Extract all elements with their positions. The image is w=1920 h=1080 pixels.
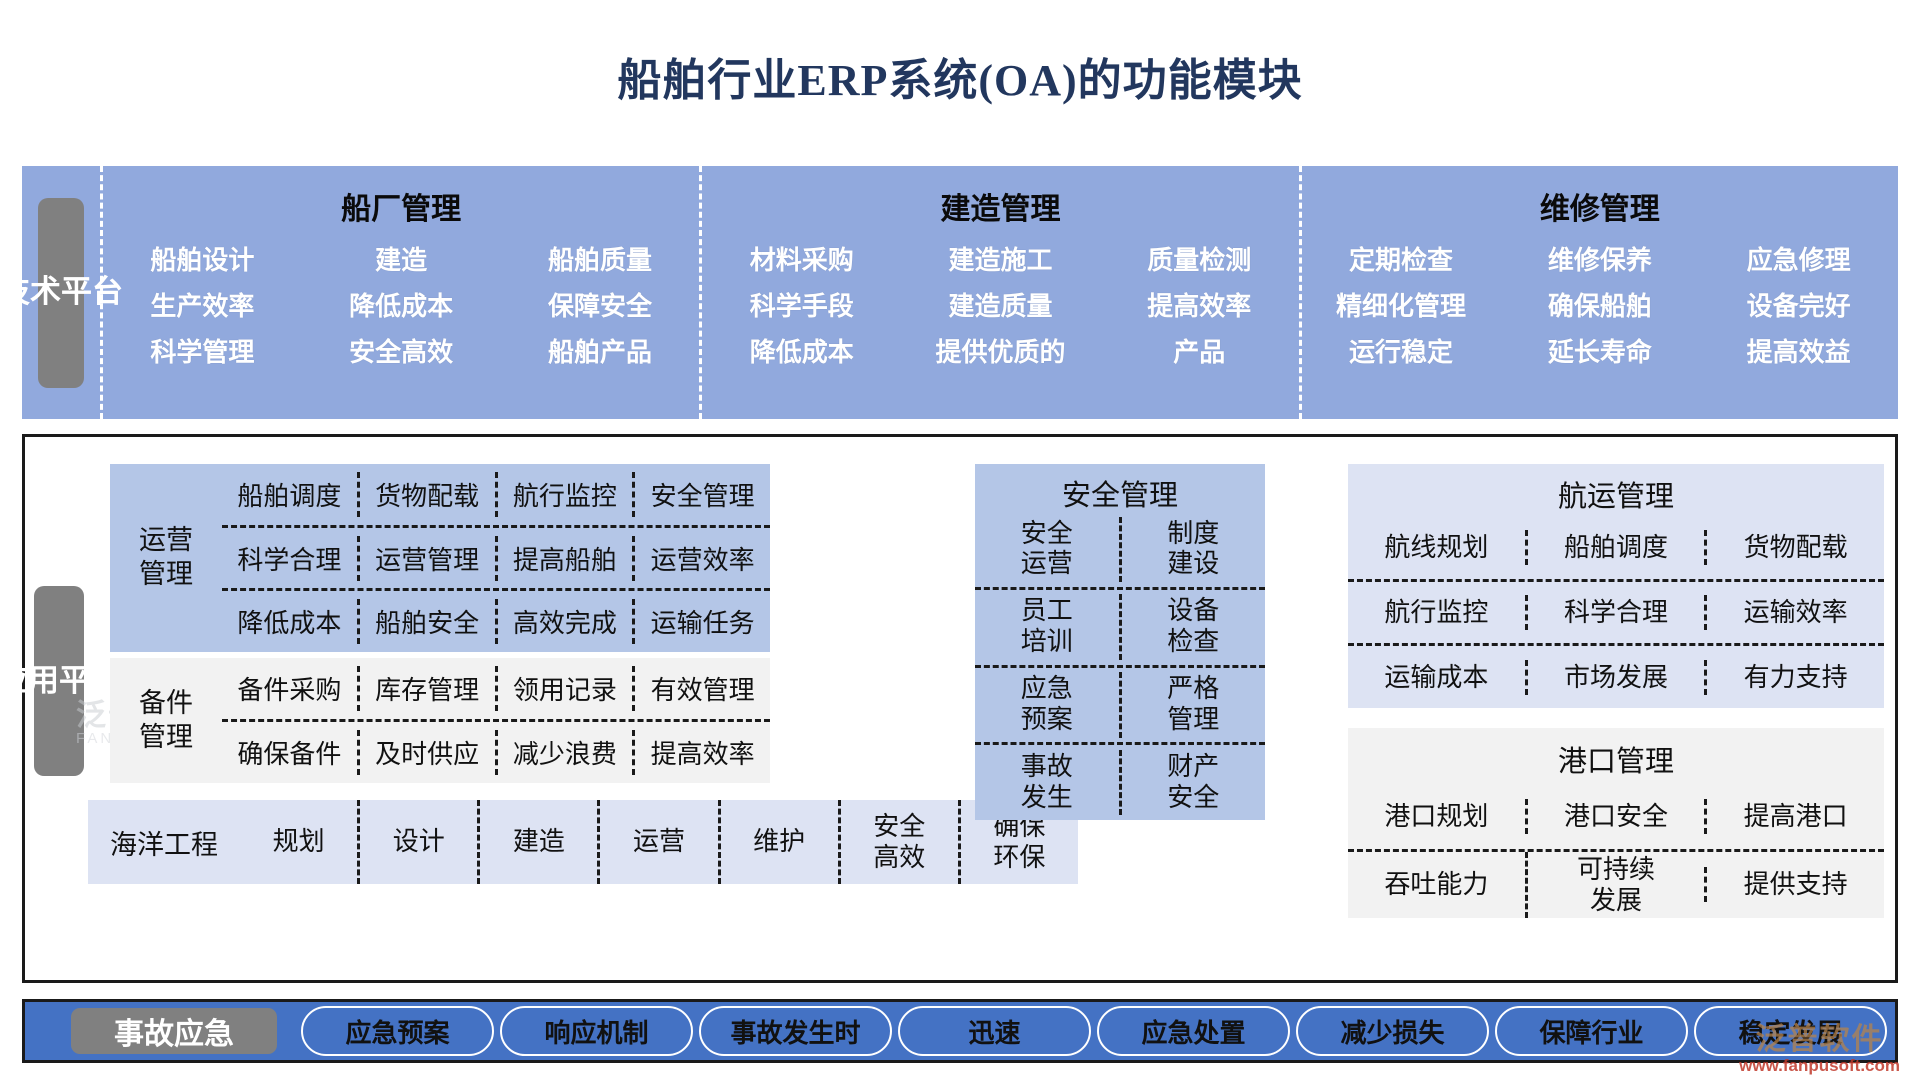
marine-cell: 设计 [357,800,477,884]
grid-cell: 制度建设 [1119,517,1266,582]
grid-cell: 运营效率 [632,536,770,581]
grid-cell: 库存管理 [357,666,495,711]
tech-cell: 降低成本 [302,286,501,323]
tech-platform-label: 技 术 平 台 [38,198,84,388]
spare-parts-management-block[interactable]: 备件 管理 备件采购 库存管理 领用记录 有效管理 确保备件 及时供应 减少浪费… [110,658,770,783]
marine-cell: 安全高效 [838,800,958,884]
tech-cell: 应急修理 [1699,240,1898,277]
emergency-label: 事故应急 [71,1008,277,1054]
grid-cell: 降低成本 [222,599,357,644]
emergency-items: 应急预案 响应机制 事故发生时 迅速 应急处置 减少损失 保障行业 稳定发展 [301,1007,1887,1055]
tech-cell: 提供优质的 [901,332,1100,369]
grid-cell: 航线规划 [1348,530,1525,565]
tech-cell: 降低成本 [702,332,901,369]
grid-cell: 确保备件 [222,730,357,775]
emergency-pill[interactable]: 稳定发展 [1694,1006,1887,1056]
grid-cell: 有效管理 [632,666,770,711]
table-row: 港口规划 港口安全 提高港口 [1348,784,1884,849]
grid-cell: 船舶调度 [1525,530,1705,565]
tech-platform-label-wrap: 技 术 平 台 [22,166,100,419]
grid-cell: 吞吐能力 [1348,867,1525,902]
tech-cell: 维修保养 [1500,240,1699,277]
emergency-bar: 事故应急 应急预案 响应机制 事故发生时 迅速 应急处置 减少损失 保障行业 稳… [22,999,1898,1063]
grid-cell: 严格管理 [1119,672,1266,737]
grid-cell: 运输成本 [1348,660,1525,695]
table-row: 科学合理 运营管理 提高船舶 运营效率 [222,525,770,589]
grid-cell: 安全运营 [975,517,1119,582]
safety-management-title: 安全管理 [975,464,1265,512]
app-platform-label: 应 用 平 台 [34,586,84,776]
marine-engineering-block[interactable]: 海洋工程 规划 设计 建造 运营 维护 安全高效 确保环保 [88,800,1078,884]
tech-row: 科学手段 建造质量 提高效率 [702,286,1298,323]
grid-cell: 港口安全 [1525,799,1705,834]
tech-cell: 材料采购 [702,240,901,277]
grid-cell: 减少浪费 [495,730,633,775]
grid-cell: 运输效率 [1704,595,1884,630]
grid-cell: 备件采购 [222,666,357,711]
tech-cell: 保障安全 [501,286,700,323]
grid-cell: 可持续发展 [1525,852,1705,918]
table-row: 航线规划 船舶调度 货物配载 [1348,517,1884,579]
app-platform-label-char-0: 应 [0,664,28,699]
tech-cell: 延长寿命 [1500,332,1699,369]
table-row: 事故发生 财产安全 [975,742,1265,820]
table-row: 员工培训 设备检查 [975,587,1265,665]
grid-cell: 提高港口 [1704,799,1884,834]
table-row: 船舶调度 货物配载 航行监控 安全管理 [222,464,770,525]
grid-cell: 提供支持 [1704,867,1884,902]
spare-parts-head: 备件 管理 [110,658,222,783]
table-row: 运输成本 市场发展 有力支持 [1348,643,1884,708]
port-management-title: 港口管理 [1348,728,1884,784]
emergency-pill[interactable]: 应急处置 [1097,1006,1290,1056]
table-row: 降低成本 船舶安全 高效完成 运输任务 [222,588,770,652]
grid-cell: 船舶调度 [222,472,357,517]
tech-cell: 确保船舶 [1500,286,1699,323]
app-platform-label-char-2: 平 [59,664,90,699]
table-row: 吞吐能力 可持续发展 提供支持 [1348,849,1884,918]
marine-cell: 维护 [718,800,838,884]
grid-cell: 员工培训 [975,594,1119,659]
operations-management-head: 运营 管理 [110,464,222,652]
grid-cell: 高效完成 [495,599,633,644]
marine-engineering-head: 海洋工程 [88,800,240,884]
spare-parts-grid: 备件采购 库存管理 领用记录 有效管理 确保备件 及时供应 减少浪费 提高效率 [222,658,770,783]
app-platform-label-wrap: 应 用 平 台 [34,586,84,776]
tech-platform-band: 技 术 平 台 船厂管理 船舶设计 建造 船舶质量 生产效率 降低成本 [22,166,1898,419]
grid-cell: 及时供应 [357,730,495,775]
shipping-management-grid: 航线规划 船舶调度 货物配载 航行监控 科学合理 运输效率 运输成本 市场发展 … [1348,517,1884,708]
tech-column-title: 建造管理 [940,184,1060,228]
emergency-pill[interactable]: 响应机制 [500,1006,693,1056]
safety-management-block[interactable]: 安全管理 安全运营 制度建设 员工培训 设备检查 应急预案 严格管理 事故发生 … [975,464,1265,820]
tech-platform-label-char-2: 平 [61,275,92,310]
emergency-pill[interactable]: 迅速 [898,1006,1091,1056]
tech-cell: 船舶设计 [103,240,302,277]
grid-cell: 货物配载 [357,472,495,517]
grid-cell: 航行监控 [495,472,633,517]
grid-cell: 事故发生 [975,750,1119,815]
tech-column-maintenance[interactable]: 维修管理 定期检查 维修保养 应急修理 精细化管理 确保船舶 设备完好 运行稳定 [1299,166,1898,419]
spare-parts-head-line-0: 备件 [139,687,193,721]
tech-cell: 安全高效 [302,332,501,369]
tech-column-rows: 船舶设计 建造 船舶质量 生产效率 降低成本 保障安全 科学管理 安全高效 船舶… [103,240,699,378]
grid-cell: 提高船舶 [495,536,633,581]
grid-cell: 运输任务 [632,599,770,644]
diagram-canvas: 船舶行业ERP系统(OA)的功能模块 技 术 平 台 船厂管理 船舶设计 建造 … [0,0,1920,1080]
spare-parts-head-line-1: 管理 [139,721,193,755]
table-row: 备件采购 库存管理 领用记录 有效管理 [222,658,770,719]
grid-cell: 船舶安全 [357,599,495,644]
tech-cell: 船舶产品 [501,332,700,369]
table-row: 确保备件 及时供应 减少浪费 提高效率 [222,719,770,783]
emergency-pill[interactable]: 保障行业 [1495,1006,1688,1056]
tech-platform-label-char-0: 技 [0,275,30,310]
marine-engineering-cells: 规划 设计 建造 运营 维护 安全高效 确保环保 [240,800,1078,884]
marine-cell: 运营 [597,800,717,884]
emergency-pill[interactable]: 减少损失 [1296,1006,1489,1056]
tech-cell: 科学手段 [702,286,901,323]
tech-cell: 质量检测 [1100,240,1299,277]
tech-cell: 建造质量 [901,286,1100,323]
tech-platform-columns: 船厂管理 船舶设计 建造 船舶质量 生产效率 降低成本 保障安全 科学管理 安全 [100,166,1898,419]
tech-platform-label-char-1: 术 [30,275,61,310]
safety-management-grid: 安全运营 制度建设 员工培训 设备检查 应急预案 严格管理 事故发生 财产安全 [975,512,1265,820]
tech-cell: 运行稳定 [1302,332,1501,369]
grid-cell: 科学合理 [1525,595,1705,630]
tech-column-construction[interactable]: 建造管理 材料采购 建造施工 质量检测 科学手段 建造质量 提高效率 降低成本 [699,166,1298,419]
tech-cell: 产品 [1100,332,1299,369]
grid-cell: 有力支持 [1704,660,1884,695]
table-row: 安全运营 制度建设 [975,512,1265,587]
grid-cell: 航行监控 [1348,595,1525,630]
tech-row: 船舶设计 建造 船舶质量 [103,240,699,277]
tech-cell: 生产效率 [103,286,302,323]
grid-cell: 设备检查 [1119,594,1266,659]
table-row: 应急预案 严格管理 [975,665,1265,743]
tech-column-shipyard[interactable]: 船厂管理 船舶设计 建造 船舶质量 生产效率 降低成本 保障安全 科学管理 安全 [103,166,699,419]
grid-cell: 安全管理 [632,472,770,517]
tech-row: 生产效率 降低成本 保障安全 [103,286,699,323]
tech-cell: 建造 [302,240,501,277]
tech-cell: 提高效率 [1100,286,1299,323]
table-row: 航行监控 科学合理 运输效率 [1348,579,1884,644]
grid-cell: 财产安全 [1119,750,1266,815]
shipping-management-block[interactable]: 航运管理 航线规划 船舶调度 货物配载 航行监控 科学合理 运输效率 运输成本 … [1348,464,1884,708]
emergency-pill[interactable]: 应急预案 [301,1006,494,1056]
tech-cell: 设备完好 [1699,286,1898,323]
marine-cell: 规划 [240,800,357,884]
grid-cell: 提高效率 [632,730,770,775]
tech-row: 运行稳定 延长寿命 提高效益 [1302,332,1898,369]
tech-row: 定期检查 维修保养 应急修理 [1302,240,1898,277]
tech-cell: 科学管理 [103,332,302,369]
operations-grid: 船舶调度 货物配载 航行监控 安全管理 科学合理 运营管理 提高船舶 运营效率 … [222,464,770,652]
operations-head-line-1: 管理 [139,558,193,592]
grid-cell: 港口规划 [1348,799,1525,834]
tech-column-title: 维修管理 [1540,184,1660,228]
tech-column-rows: 材料采购 建造施工 质量检测 科学手段 建造质量 提高效率 降低成本 提供优质的… [702,240,1298,378]
grid-cell: 市场发展 [1525,660,1705,695]
operations-management-block[interactable]: 运营 管理 船舶调度 货物配载 航行监控 安全管理 科学合理 运营管理 提高船舶… [110,464,770,652]
tech-cell: 船舶质量 [501,240,700,277]
operations-head-line-0: 运营 [139,524,193,558]
tech-row: 降低成本 提供优质的 产品 [702,332,1298,369]
grid-cell: 应急预案 [975,672,1119,737]
tech-cell: 定期检查 [1302,240,1501,277]
shipping-management-title: 航运管理 [1348,464,1884,517]
emergency-pill[interactable]: 事故发生时 [699,1006,892,1056]
tech-column-title: 船厂管理 [341,184,461,228]
marine-cell: 建造 [477,800,597,884]
grid-cell: 领用记录 [495,666,633,711]
tech-cell: 提高效益 [1699,332,1898,369]
grid-cell: 货物配载 [1704,530,1884,565]
port-management-block[interactable]: 港口管理 港口规划 港口安全 提高港口 吞吐能力 可持续发展 提供支持 [1348,728,1884,918]
port-management-grid: 港口规划 港口安全 提高港口 吞吐能力 可持续发展 提供支持 [1348,784,1884,918]
tech-row: 精细化管理 确保船舶 设备完好 [1302,286,1898,323]
tech-cell: 建造施工 [901,240,1100,277]
app-platform-label-char-1: 用 [28,664,59,699]
page-title: 船舶行业ERP系统(OA)的功能模块 [0,44,1920,108]
tech-cell: 精细化管理 [1302,286,1501,323]
grid-cell: 运营管理 [357,536,495,581]
tech-row: 材料采购 建造施工 质量检测 [702,240,1298,277]
tech-row: 科学管理 安全高效 船舶产品 [103,332,699,369]
tech-column-rows: 定期检查 维修保养 应急修理 精细化管理 确保船舶 设备完好 运行稳定 延长寿命… [1302,240,1898,378]
grid-cell: 科学合理 [222,536,357,581]
